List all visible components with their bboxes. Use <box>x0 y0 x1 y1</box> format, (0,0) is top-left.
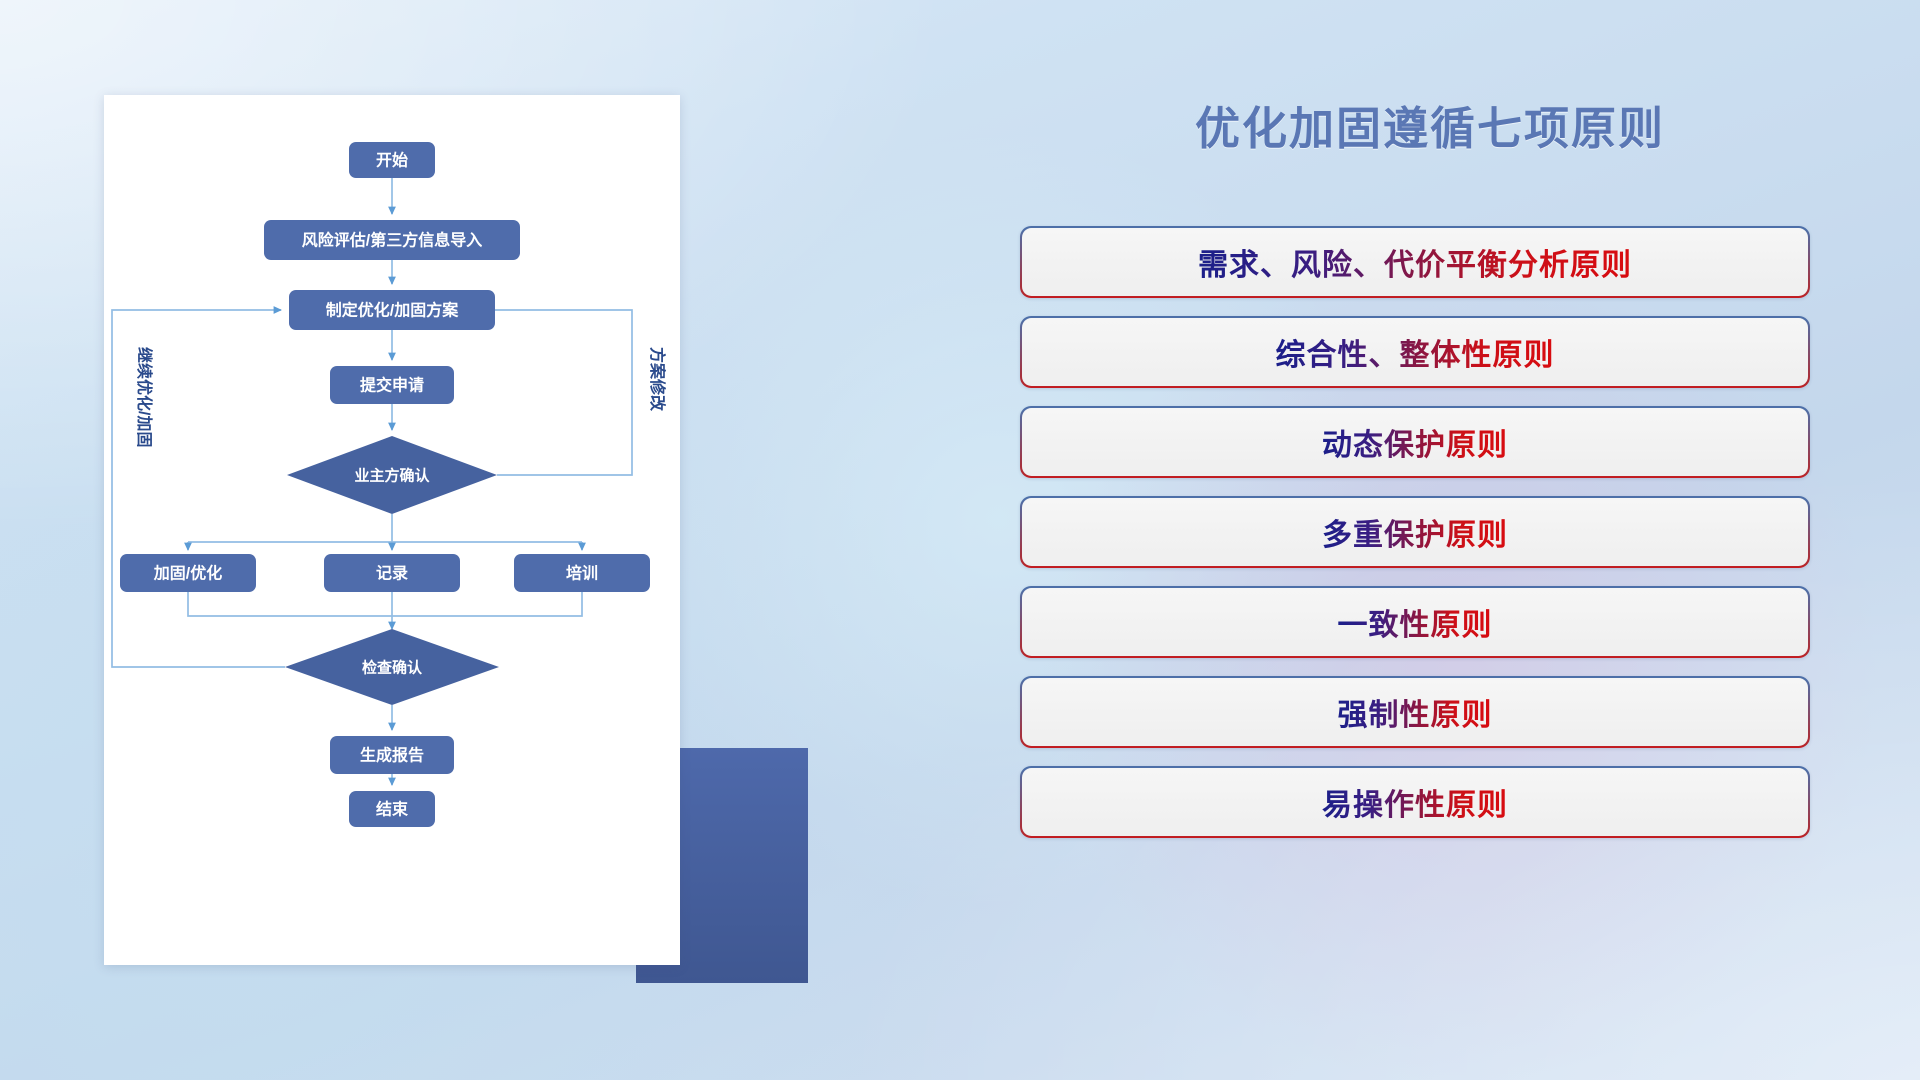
principles-list: 需求、风险、代价平衡分析原则 综合性、整体性原则 动态保护原则 多重保护原则 <box>1020 226 1810 856</box>
principle-label: 需求、风险、代价平衡分析原则 <box>1198 240 1632 284</box>
principle-card-inner: 强制性原则 <box>1022 678 1809 747</box>
node-reinforce-optimize[interactable]: 加固/优化 <box>120 554 256 592</box>
principle-card-2[interactable]: 综合性、整体性原则 <box>1020 316 1810 388</box>
slide-canvas: 开始 风险评估/第三方信息导入 制定优化/加固方案 提交申请 业主方确认 加固/ <box>0 0 1920 1080</box>
node-start-label: 开始 <box>376 151 408 170</box>
principle-label: 易操作性原则 <box>1322 780 1508 824</box>
principle-card-1[interactable]: 需求、风险、代价平衡分析原则 <box>1020 226 1810 298</box>
node-training-label: 培训 <box>566 564 598 583</box>
node-make-plan-label: 制定优化/加固方案 <box>326 301 459 320</box>
node-submit-application-label: 提交申请 <box>360 376 424 395</box>
node-submit-application[interactable]: 提交申请 <box>330 366 454 404</box>
principle-card-3[interactable]: 动态保护原则 <box>1020 406 1810 478</box>
node-owner-confirm[interactable]: 业主方确认 <box>287 436 497 514</box>
flowchart-card: 开始 风险评估/第三方信息导入 制定优化/加固方案 提交申请 业主方确认 加固/ <box>104 95 680 965</box>
principle-card-inner: 动态保护原则 <box>1022 408 1809 477</box>
node-owner-confirm-label: 业主方确认 <box>354 467 430 485</box>
principle-label: 多重保护原则 <box>1322 510 1508 554</box>
principle-card-7[interactable]: 易操作性原则 <box>1020 766 1810 838</box>
node-risk-assessment-label: 风险评估/第三方信息导入 <box>302 231 482 250</box>
principle-card-inner: 需求、风险、代价平衡分析原则 <box>1022 228 1809 297</box>
edge-merge-bus <box>188 592 582 616</box>
principle-label: 动态保护原则 <box>1322 420 1508 464</box>
principle-card-4[interactable]: 多重保护原则 <box>1020 496 1810 568</box>
principle-card-inner: 多重保护原则 <box>1022 498 1809 567</box>
edge-label-continue-optimize: 继续优化/加固 <box>135 347 154 447</box>
principle-label: 综合性、整体性原则 <box>1276 330 1555 374</box>
node-check-confirm[interactable]: 检查确认 <box>285 629 499 705</box>
node-end-label: 结束 <box>375 800 409 819</box>
principle-card-inner: 一致性原则 <box>1022 588 1809 657</box>
node-start[interactable]: 开始 <box>349 142 435 178</box>
node-make-plan[interactable]: 制定优化/加固方案 <box>289 290 495 330</box>
principle-card-6[interactable]: 强制性原则 <box>1020 676 1810 748</box>
principle-label: 强制性原则 <box>1338 690 1493 734</box>
edge-label-plan-revision: 方案修改 <box>648 347 667 412</box>
node-record-label: 记录 <box>376 565 408 583</box>
principle-label: 一致性原则 <box>1338 600 1493 644</box>
node-training[interactable]: 培训 <box>514 554 650 592</box>
node-generate-report[interactable]: 生成报告 <box>330 736 454 774</box>
principles-title: 优化加固遵循七项原则 <box>1020 92 1840 157</box>
node-end[interactable]: 结束 <box>349 791 435 827</box>
node-record[interactable]: 记录 <box>324 554 460 592</box>
node-risk-assessment[interactable]: 风险评估/第三方信息导入 <box>264 220 520 260</box>
principle-card-5[interactable]: 一致性原则 <box>1020 586 1810 658</box>
principles-panel: 优化加固遵循七项原则 需求、风险、代价平衡分析原则 综合性、整体性原则 动态保护… <box>1020 92 1840 1012</box>
flowchart-svg: 开始 风险评估/第三方信息导入 制定优化/加固方案 提交申请 业主方确认 加固/ <box>104 95 680 965</box>
node-reinforce-optimize-label: 加固/优化 <box>153 564 222 583</box>
node-check-confirm-label: 检查确认 <box>362 659 423 677</box>
principle-card-inner: 综合性、整体性原则 <box>1022 318 1809 387</box>
principle-card-inner: 易操作性原则 <box>1022 768 1809 837</box>
node-generate-report-label: 生成报告 <box>360 746 424 765</box>
